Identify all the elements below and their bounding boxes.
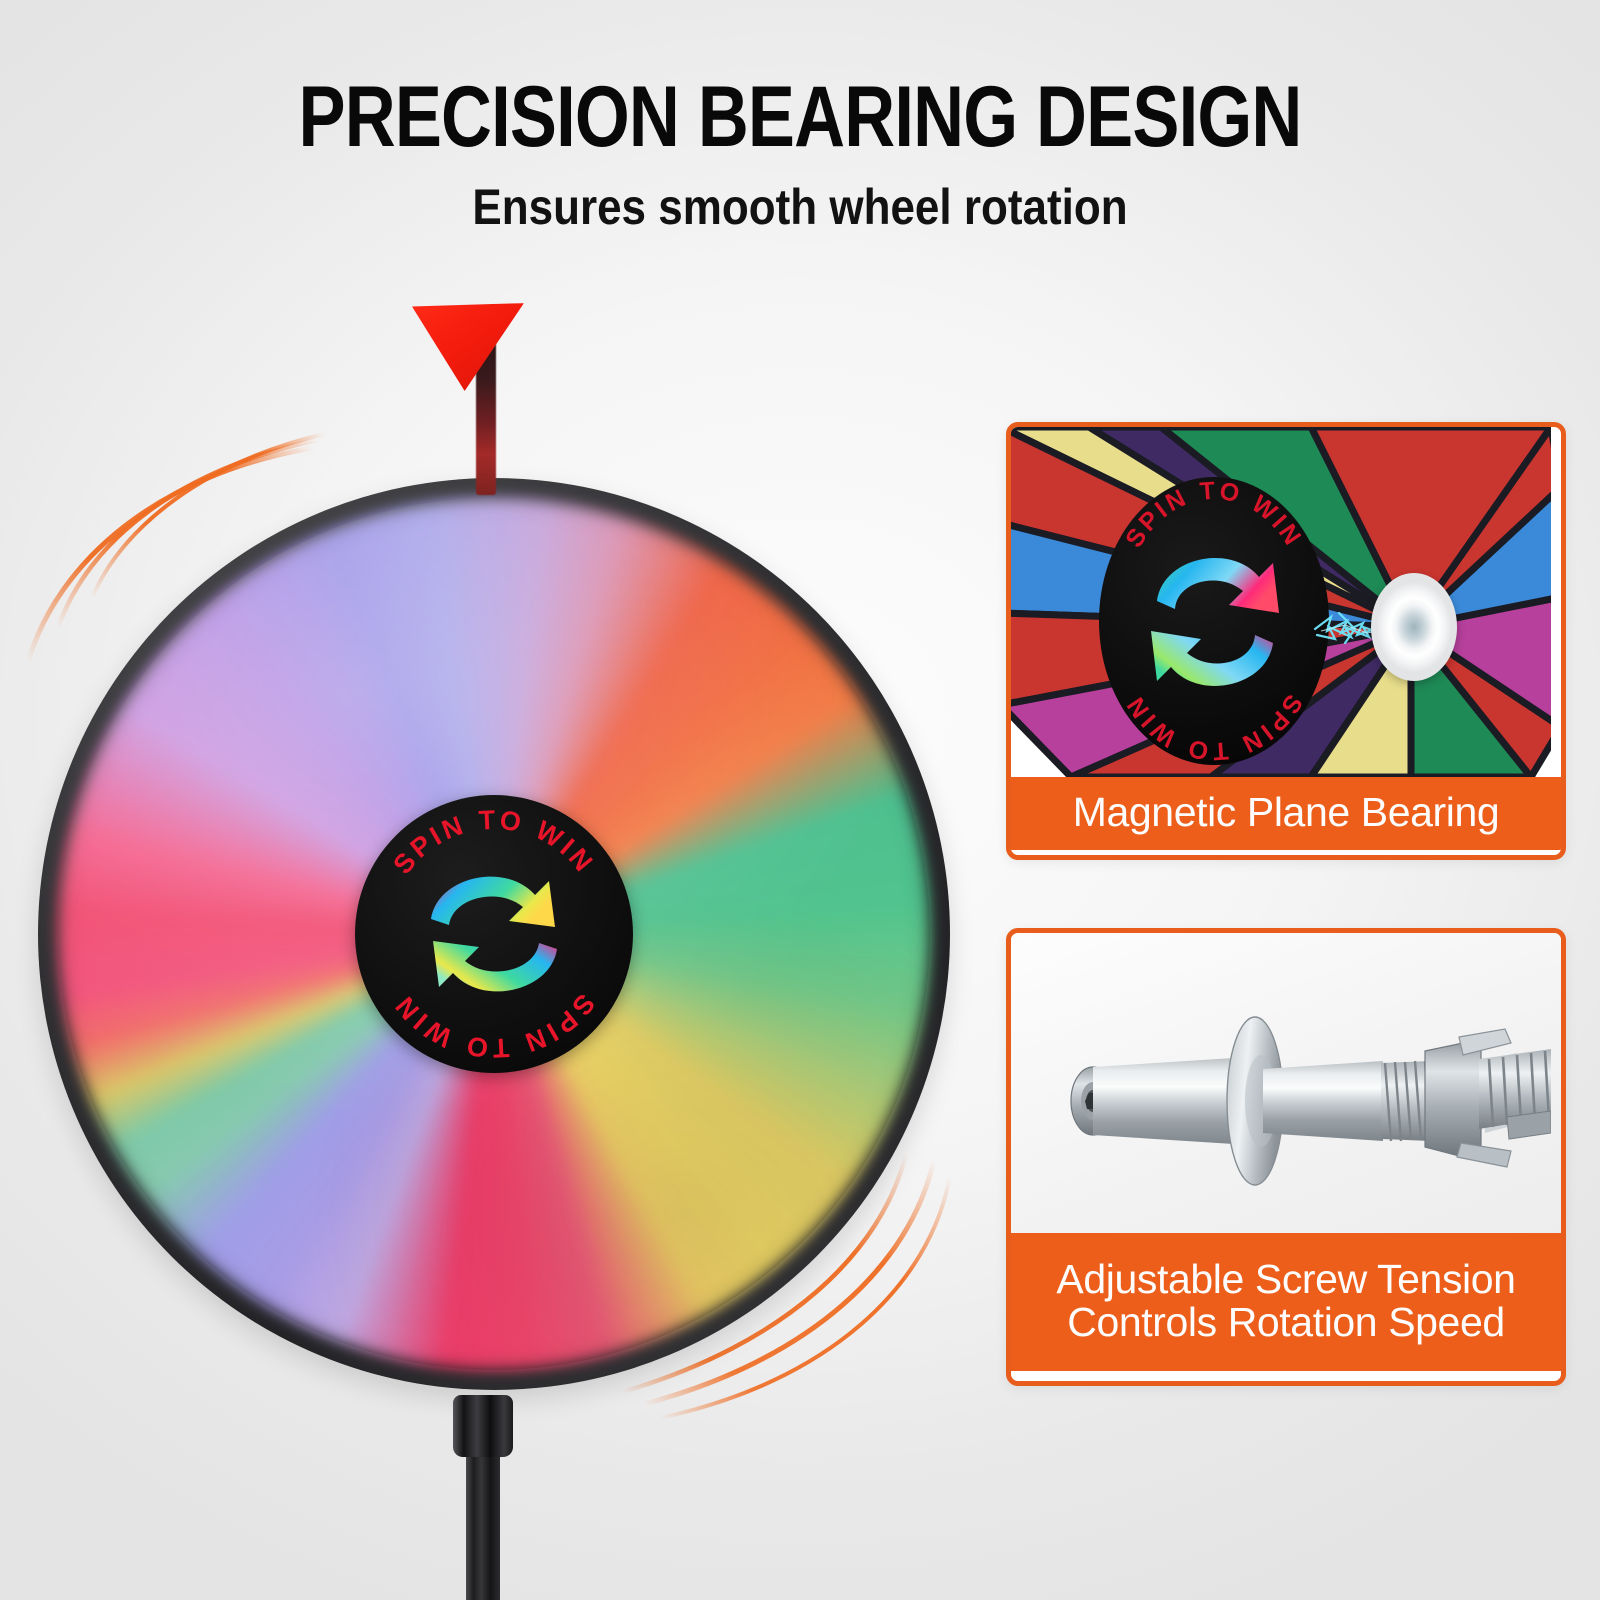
prize-wheel[interactable]: SPIN TO WIN SPIN TO WIN — [38, 478, 950, 1390]
product-feature-image: PRECISION BEARING DESIGN Ensures smooth … — [0, 0, 1600, 1600]
inset-refresh-arrows-icon — [1151, 558, 1279, 686]
refresh-arrows-icon — [431, 877, 557, 992]
wheel-stand-collar — [453, 1395, 513, 1457]
caption-line: Adjustable Screw Tension — [1056, 1258, 1515, 1301]
wheel-hub-logo: SPIN TO WIN SPIN TO WIN — [355, 795, 633, 1073]
panel-adjustable-screw[interactable]: Adjustable Screw Tension Controls Rotati… — [1006, 928, 1566, 1386]
magnetic-bearing-photo: SPIN TO WIN SPIN TO WIN — [1011, 427, 1561, 777]
screw-hardware-photo — [1011, 933, 1561, 1233]
page-subtitle: Ensures smooth wheel rotation — [96, 178, 1504, 236]
panel-adjustable-screw-caption: Adjustable Screw Tension Controls Rotati… — [1011, 1233, 1561, 1371]
axle-bolt-icon — [1011, 933, 1551, 1233]
pointer-flag-icon — [412, 303, 524, 391]
hub-text-top: SPIN TO WIN — [387, 805, 600, 880]
page-title: PRECISION BEARING DESIGN — [144, 68, 1456, 167]
panel-magnetic-bearing[interactable]: SPIN TO WIN SPIN TO WIN — [1006, 422, 1566, 860]
magnetic-bearing-disc — [1371, 573, 1457, 681]
panel-magnetic-bearing-caption: Magnetic Plane Bearing — [1011, 777, 1561, 850]
caption-line: Magnetic Plane Bearing — [1073, 791, 1500, 834]
inset-hub-logo: SPIN TO WIN SPIN TO WIN — [1099, 477, 1329, 765]
caption-line: Controls Rotation Speed — [1067, 1301, 1505, 1344]
